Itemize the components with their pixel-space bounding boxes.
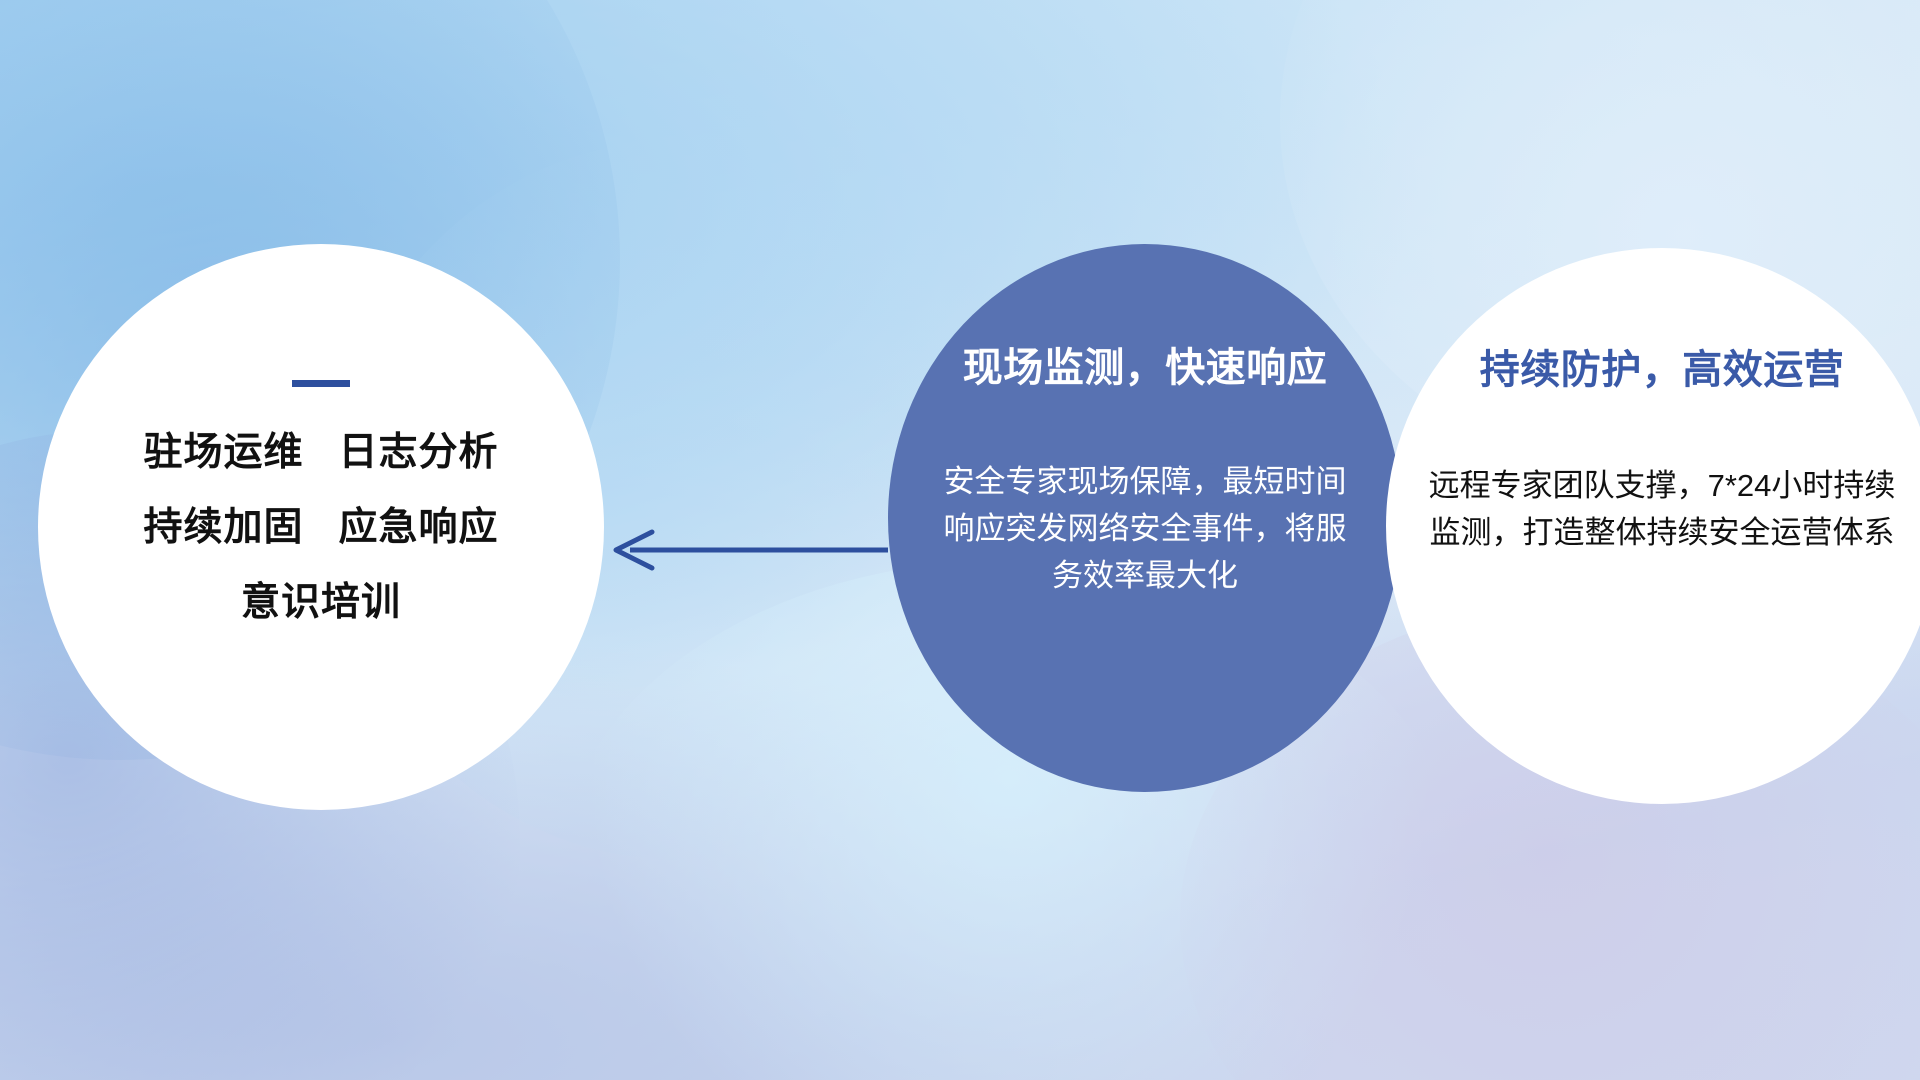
keyword-item: 意识培训 <box>241 583 401 622</box>
on-site-monitoring-body: 安全专家现场保障，最短时间响应突发网络安全事件，将服务效率最大化 <box>918 458 1372 599</box>
slide-canvas: 驻场运维 日志分析 持续加固 应急响应 意识培训 现场监测，快速响应 安全专家现… <box>0 0 1920 1080</box>
on-site-monitoring-title: 现场监测，快速响应 <box>918 346 1372 390</box>
keyword-row: 持续加固 应急响应 <box>143 508 498 547</box>
leftward-flow-arrow <box>600 520 890 580</box>
keyword-row: 驻场运维 日志分析 <box>143 433 498 472</box>
title-divider-dash <box>292 380 350 387</box>
keyword-item: 持续加固 <box>143 508 303 547</box>
continuous-protection-content: 持续防护，高效运营 远程专家团队支撑，7*24小时持续监测，打造整体持续安全运营… <box>1386 248 1920 804</box>
continuous-protection-title: 持续防护，高效运营 <box>1412 348 1912 392</box>
keyword-item: 驻场运维 <box>143 433 303 472</box>
on-site-monitoring-content: 现场监测，快速响应 安全专家现场保障，最短时间响应突发网络安全事件，将服务效率最… <box>888 244 1402 792</box>
on-site-services-content: 驻场运维 日志分析 持续加固 应急响应 意识培训 <box>38 244 604 810</box>
arrow-left-icon <box>600 520 890 580</box>
keyword-item: 日志分析 <box>339 433 499 472</box>
continuous-protection-body: 远程专家团队支撑，7*24小时持续监测，打造整体持续安全运营体系 <box>1412 462 1912 556</box>
keyword-row: 意识培训 <box>241 583 401 622</box>
keyword-item: 应急响应 <box>339 508 499 547</box>
